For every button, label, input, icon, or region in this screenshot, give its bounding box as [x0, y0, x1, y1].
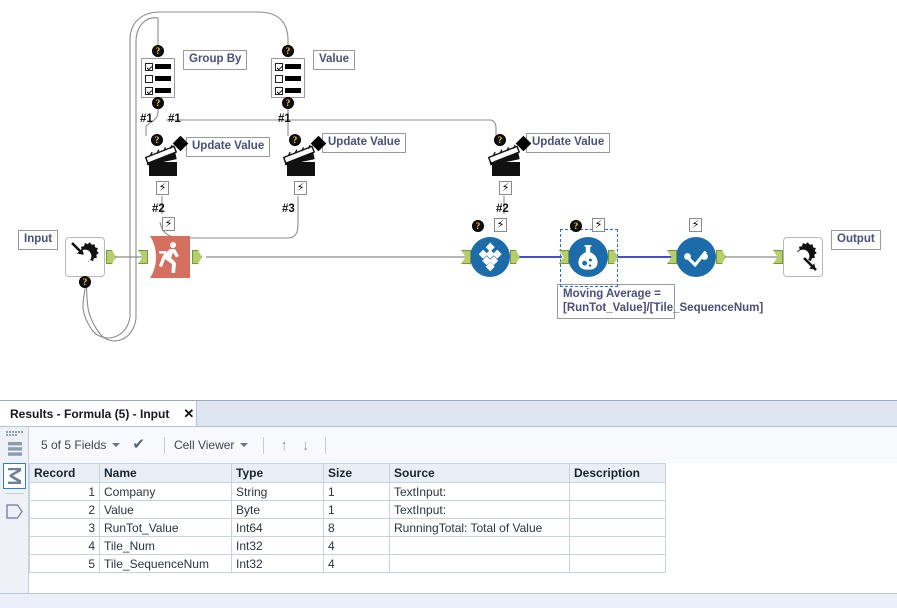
gear-arrow-out-icon	[783, 237, 823, 277]
column-header-description[interactable]: Description	[570, 464, 666, 483]
toolbar-divider	[263, 437, 264, 454]
action-bolt-icon[interactable]: ⚡	[494, 218, 507, 232]
fields-label: 5 of 5 Fields	[41, 438, 106, 452]
cell-type: Int32	[232, 555, 324, 573]
formula-annotation[interactable]: Moving Average = [RunTot_Value]/[Tile_Se…	[557, 284, 675, 319]
cell-name: Value	[100, 501, 232, 519]
config-anchor-icon[interactable]: ?	[282, 45, 294, 57]
cell-name: Tile_SequenceNum	[100, 555, 232, 573]
cell-name: RunTot_Value	[100, 519, 232, 537]
select-tool[interactable]: ⚡	[676, 237, 716, 277]
config-anchor-icon[interactable]: ?	[152, 45, 164, 57]
check-icon[interactable]: ✔	[132, 438, 145, 452]
checkbox-list-icon	[141, 58, 175, 98]
output-annotation[interactable]: Output	[831, 230, 881, 250]
column-header-type[interactable]: Type	[232, 464, 324, 483]
metadata-view-button[interactable]	[3, 463, 26, 489]
table-row[interactable]: 3 RunTot_Value Int64 8 RunningTotal: Tot…	[30, 519, 666, 537]
action-output-bolt-icon[interactable]: ⚡	[294, 181, 307, 195]
cell-description	[570, 537, 666, 555]
status-bar	[0, 593, 897, 608]
move-down-button[interactable]: ↓	[302, 438, 310, 453]
cell-record: 4	[30, 537, 100, 555]
close-icon[interactable]: ✕	[183, 408, 194, 420]
cell-type: String	[232, 483, 324, 501]
output-anchor-icon[interactable]: ?	[282, 97, 294, 109]
running-total-macro-tool[interactable]: ⚡	[148, 236, 192, 281]
table-row[interactable]: 4 Tile_Num Int32 4	[30, 537, 666, 555]
column-header-source[interactable]: Source	[390, 464, 570, 483]
action-output-bolt-icon[interactable]: ⚡	[156, 181, 169, 195]
update-value-2-annotation[interactable]: Update Value	[322, 133, 406, 153]
check-circle-icon	[676, 237, 716, 277]
rail-divider	[5, 493, 24, 494]
cell-viewer-label: Cell Viewer	[174, 438, 234, 452]
results-body: 5 of 5 Fields ✔ Cell Viewer ↑ ↓	[0, 427, 897, 608]
tile-tool[interactable]: ? ⚡	[470, 237, 510, 277]
cell-description	[570, 555, 666, 573]
drag-grip-icon[interactable]	[6, 430, 24, 435]
cell-size: 8	[324, 519, 390, 537]
macro-output-tool[interactable]	[783, 237, 823, 277]
config-anchor-icon[interactable]: ?	[472, 220, 484, 232]
output-anchor-icon[interactable]: ?	[79, 276, 91, 288]
diamond-grid-icon	[470, 237, 510, 277]
move-up-button[interactable]: ↑	[280, 438, 288, 453]
cell-record: 5	[30, 555, 100, 573]
metadata-grid[interactable]: Record Name Type Size Source Description…	[29, 463, 897, 608]
profile-view-button[interactable]	[3, 498, 26, 524]
data-view-button[interactable]	[3, 436, 26, 462]
results-toolbar: 5 of 5 Fields ✔ Cell Viewer ↑ ↓	[29, 427, 897, 463]
wire-label-1b: #1	[168, 113, 181, 125]
wire-label-3: #3	[282, 203, 295, 215]
update-value-3-annotation[interactable]: Update Value	[526, 133, 610, 153]
cell-source: RunningTotal: Total of Value	[390, 519, 570, 537]
update-value-1-annotation[interactable]: Update Value	[186, 137, 270, 157]
cell-record: 3	[30, 519, 100, 537]
formula-tool[interactable]: ? ⚡	[568, 237, 608, 277]
cell-size: 1	[324, 501, 390, 519]
metadata-table: Record Name Type Size Source Description…	[29, 463, 666, 573]
results-view-rail	[0, 427, 29, 608]
cell-name: Tile_Num	[100, 537, 232, 555]
toolbar-divider	[325, 437, 326, 454]
cell-source: TextInput:	[390, 483, 570, 501]
table-row[interactable]: 5 Tile_SequenceNum Int32 4	[30, 555, 666, 573]
results-tab-strip: Results - Formula (5) - Input ✕	[0, 401, 897, 427]
action-bolt-icon[interactable]: ⚡	[689, 218, 702, 232]
cell-source	[390, 537, 570, 555]
macro-input-tool[interactable]: ?	[65, 237, 105, 277]
cell-record: 2	[30, 501, 100, 519]
checkbox-list-icon	[271, 58, 305, 98]
column-header-size[interactable]: Size	[324, 464, 390, 483]
results-tab[interactable]: Results - Formula (5) - Input ✕	[0, 401, 197, 426]
runner-icon	[148, 236, 192, 278]
config-anchor-icon[interactable]: ?	[289, 134, 301, 146]
alteryx-designer-window: Input Group By Value Update Value Update…	[0, 0, 897, 608]
cell-name: Company	[100, 483, 232, 501]
value-annotation[interactable]: Value	[313, 50, 355, 70]
cell-description	[570, 519, 666, 537]
flask-icon	[568, 237, 608, 277]
group-by-annotation[interactable]: Group By	[183, 50, 247, 70]
output-anchor-icon[interactable]: ?	[152, 97, 164, 109]
cell-description	[570, 483, 666, 501]
wire-label-2b: #2	[496, 203, 509, 215]
results-tab-title: Results - Formula (5) - Input	[10, 407, 169, 421]
cell-source	[390, 555, 570, 573]
results-pane: Results - Formula (5) - Input ✕	[0, 400, 897, 608]
workflow-canvas[interactable]: Input Group By Value Update Value Update…	[0, 0, 897, 400]
cell-description	[570, 501, 666, 519]
group-by-listbox-tool[interactable]: ? ?	[141, 58, 175, 98]
column-header-record[interactable]: Record	[30, 464, 100, 483]
input-annotation[interactable]: Input	[18, 230, 58, 250]
config-anchor-icon[interactable]: ?	[151, 134, 163, 146]
action-bolt-icon[interactable]: ⚡	[592, 218, 605, 232]
value-listbox-tool[interactable]: ? ?	[271, 58, 305, 98]
chevron-down-icon[interactable]	[112, 443, 120, 447]
tag-shape-icon	[6, 504, 23, 519]
action-output-bolt-icon[interactable]: ⚡	[499, 181, 512, 195]
config-anchor-icon[interactable]: ?	[494, 134, 506, 146]
cell-source: TextInput:	[390, 501, 570, 519]
fields-selector[interactable]: 5 of 5 Fields	[41, 438, 120, 452]
wire-label-2a: #2	[152, 203, 165, 215]
wire-layer	[0, 0, 897, 400]
table-header-row: Record Name Type Size Source Description	[30, 464, 666, 483]
toolbar-divider	[164, 437, 165, 454]
chevron-down-icon[interactable]	[240, 443, 248, 447]
cell-record: 1	[30, 483, 100, 501]
gear-arrow-in-icon	[65, 237, 105, 277]
action-bolt-icon[interactable]: ⚡	[162, 217, 175, 231]
cell-type: Byte	[232, 501, 324, 519]
cell-viewer-selector[interactable]: Cell Viewer	[174, 438, 248, 452]
wire-label-1a: #1	[140, 113, 153, 125]
action-tool-3[interactable]: ? ⚡	[486, 140, 526, 185]
table-row[interactable]: 2 Value Byte 1 TextInput:	[30, 501, 666, 519]
wire-label-1c: #1	[278, 113, 291, 125]
column-header-name[interactable]: Name	[100, 464, 232, 483]
cell-type: Int32	[232, 537, 324, 555]
cell-size: 4	[324, 555, 390, 573]
sigma-icon	[6, 467, 23, 485]
table-row[interactable]: 1 Company String 1 TextInput:	[30, 483, 666, 501]
cell-type: Int64	[232, 519, 324, 537]
cell-size: 1	[324, 483, 390, 501]
config-anchor-icon[interactable]: ?	[570, 220, 582, 232]
action-tool-1[interactable]: ? ⚡	[143, 140, 183, 185]
action-tool-2[interactable]: ? ⚡	[281, 140, 321, 185]
stacked-rows-icon	[7, 441, 23, 458]
cell-size: 4	[324, 537, 390, 555]
